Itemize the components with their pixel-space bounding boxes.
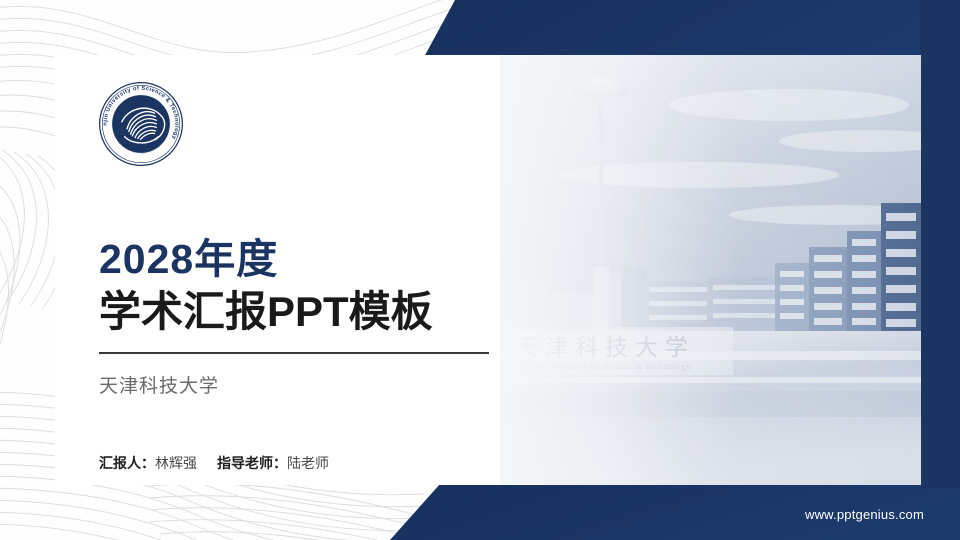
title-divider — [99, 352, 489, 354]
presentation-slide: 天津科技大学 Tianjin University of Science & T… — [0, 0, 960, 540]
page-title: 学术汇报PPT模板 — [99, 287, 499, 337]
title-block: 2028年度 学术汇报PPT模板 天津科技大学 — [99, 235, 499, 398]
site-url[interactable]: www.pptgenius.com — [805, 507, 924, 522]
advisor-name: 陆老师 — [287, 455, 329, 471]
presenter-label: 汇报人： — [99, 455, 155, 471]
subtitle-university: 天津科技大学 — [99, 371, 499, 398]
title-year: 2028年度 — [99, 235, 499, 283]
title-card: Tianjin University of Science & Technolo… — [55, 55, 500, 485]
university-logo-icon: Tianjin University of Science & Technolo… — [97, 80, 185, 168]
presenter-name: 林辉强 — [155, 455, 197, 471]
advisor-label: 指导老师： — [217, 455, 287, 471]
presenter-info: 汇报人：林辉强指导老师：陆老师 — [99, 453, 329, 473]
campus-photo: 天津科技大学 Tianjin University of Science & T… — [489, 55, 921, 485]
